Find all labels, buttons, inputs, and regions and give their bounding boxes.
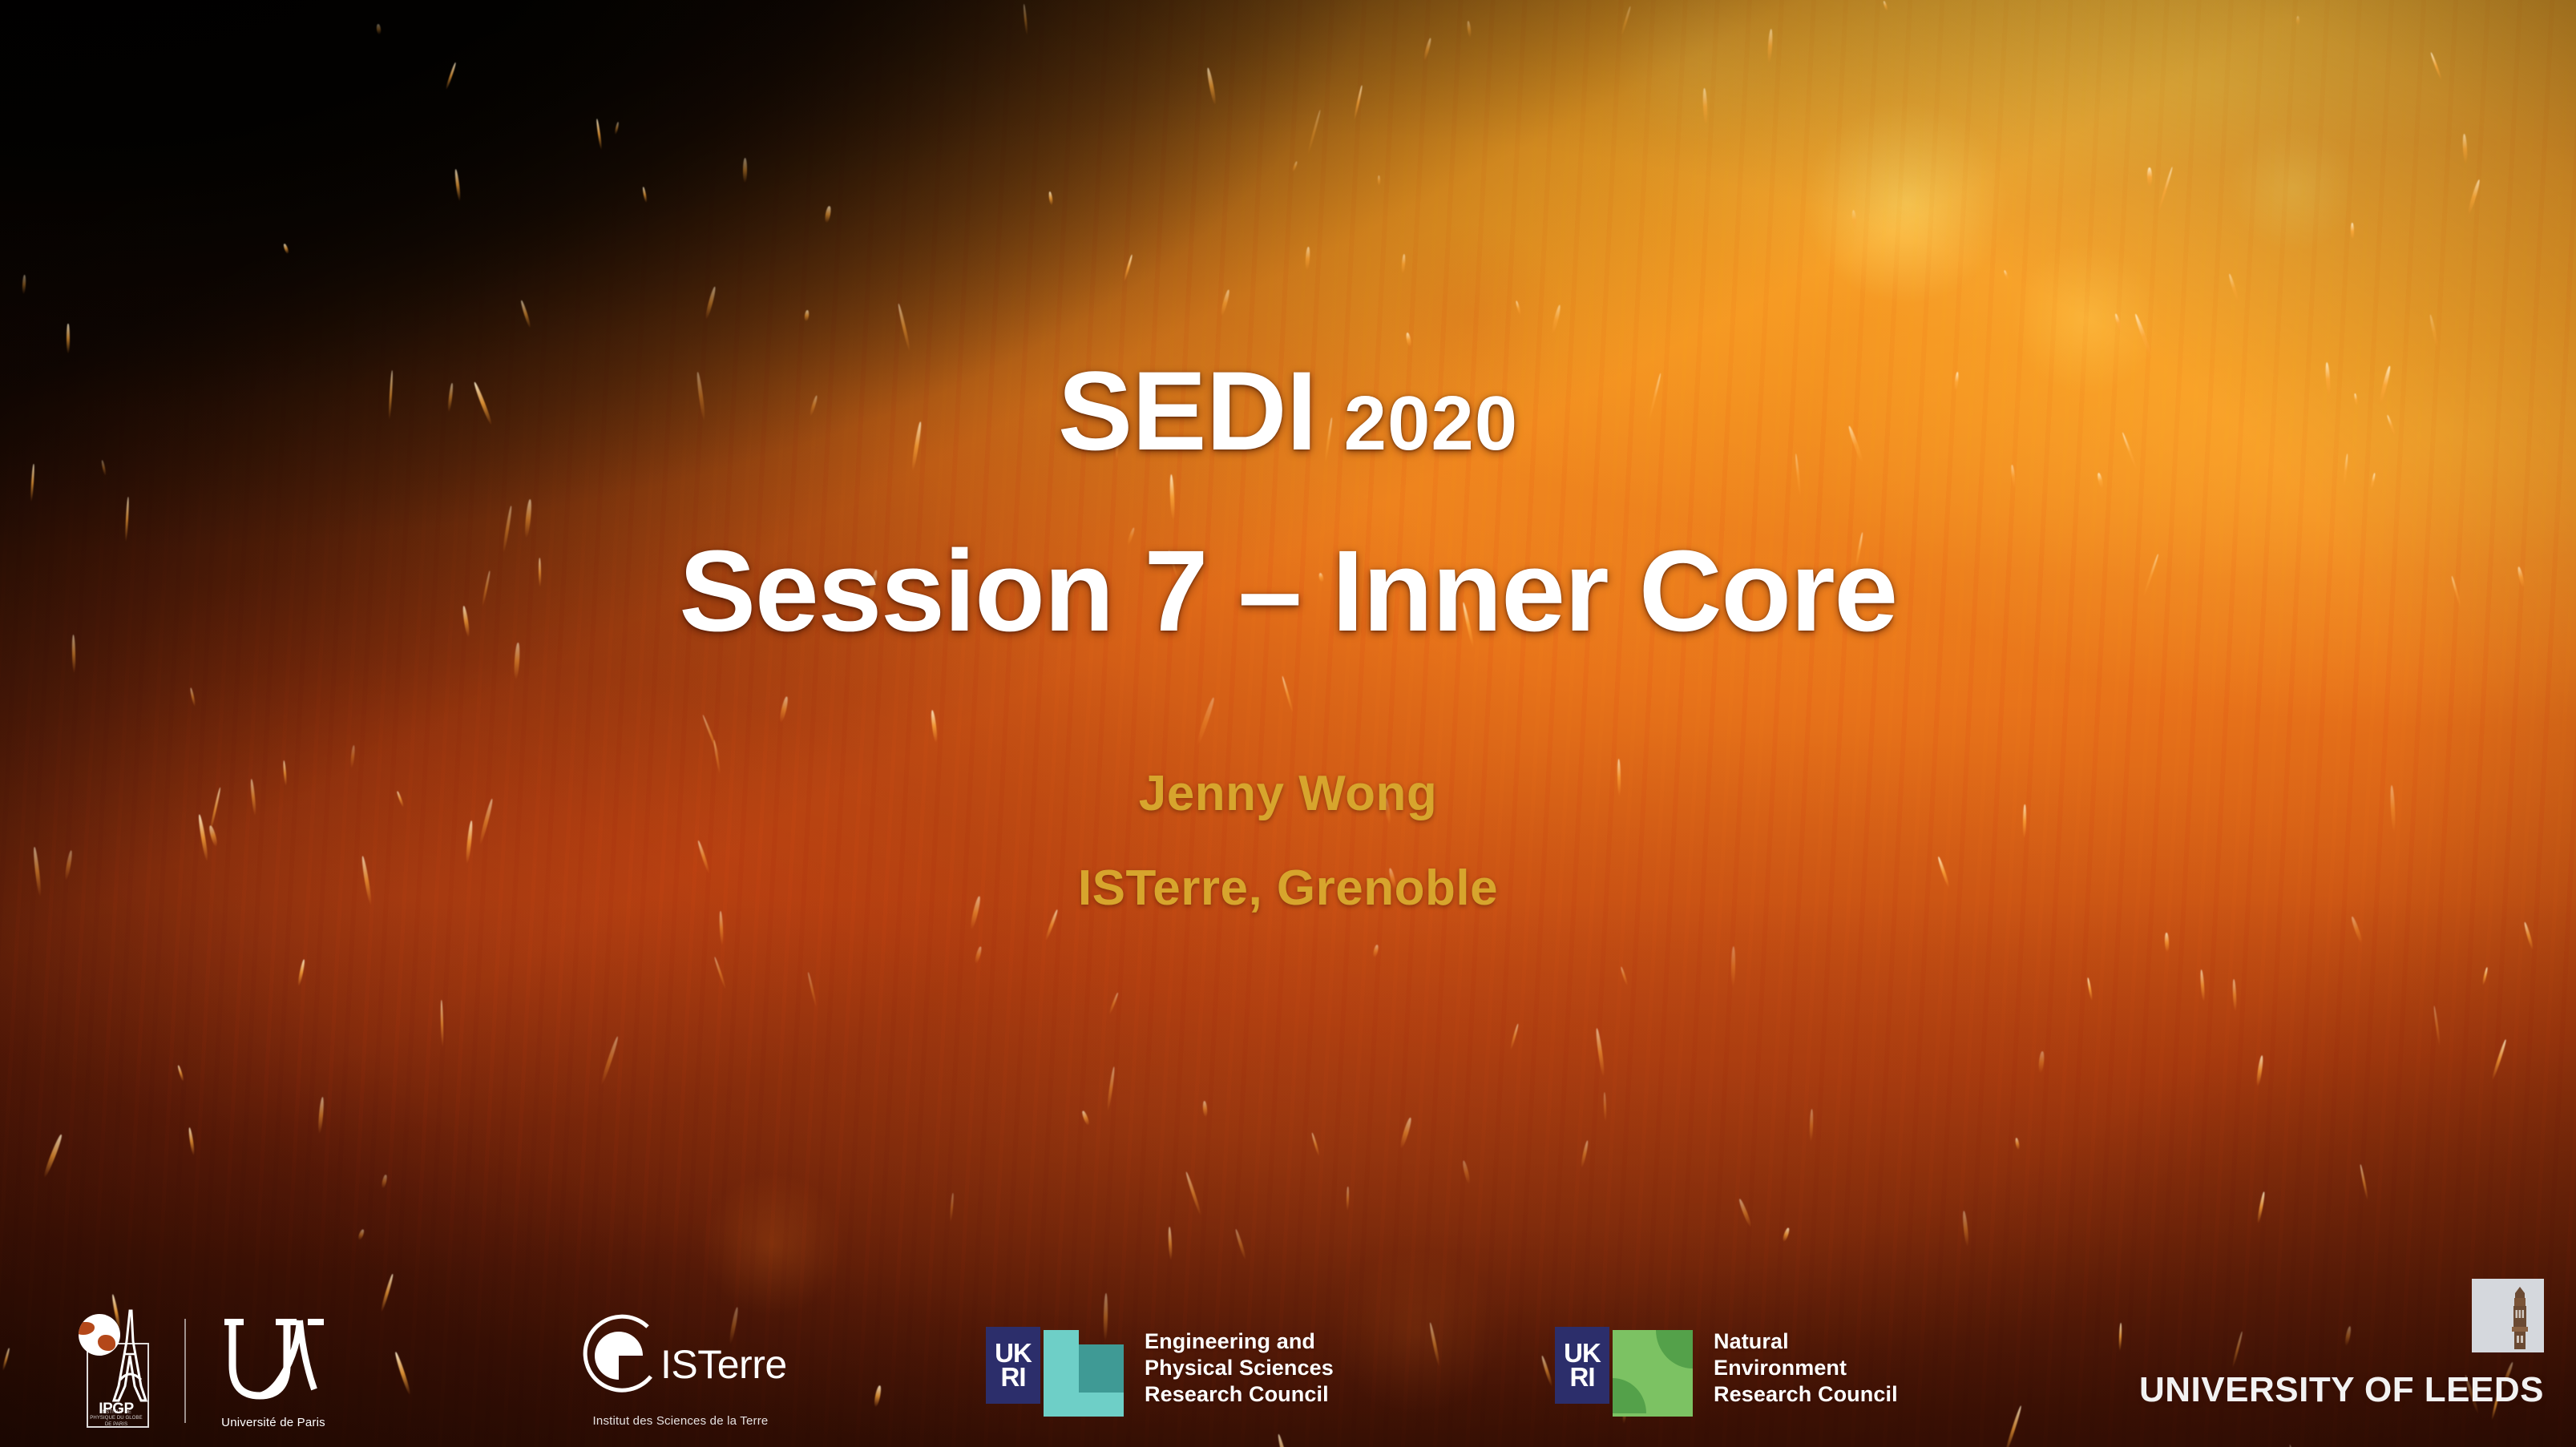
logo-divider — [184, 1319, 186, 1423]
presentation-slide: SEDI2020 Session 7 – Inner Core Jenny Wo… — [0, 0, 2576, 1447]
parkinson-tower-icon — [2506, 1285, 2534, 1351]
background-dark-corner — [0, 0, 2576, 1447]
nerc-shapes — [1609, 1327, 1696, 1417]
universite-paris-name: Université de Paris — [213, 1416, 333, 1429]
epsrc-name-line-2: Physical Sciences — [1145, 1355, 1334, 1381]
u-monogram-icon — [220, 1316, 327, 1405]
epsrc-name-line-3: Research Council — [1145, 1381, 1334, 1408]
epsrc-council-name: Engineering and Physical Sciences Resear… — [1145, 1327, 1334, 1408]
background-vignette — [0, 0, 2576, 1447]
nerc-name-line-1: Natural — [1714, 1328, 1898, 1355]
background-upper-right-bloom — [0, 0, 2576, 1447]
slide-title-primary: SEDI2020 — [0, 346, 2576, 476]
nerc-name-line-2: Environment — [1714, 1355, 1898, 1381]
background-flame-streaks — [0, 0, 2576, 1447]
logo-university-of-leeds: UNIVERSITY OF LEEDS — [2129, 1279, 2546, 1423]
eiffel-tower-icon — [109, 1309, 152, 1404]
ember-sparks — [0, 0, 2576, 1447]
isterre-name: ISTerre — [660, 1344, 787, 1385]
slide-title-session: Session 7 – Inner Core — [0, 525, 2576, 658]
background-bottom-shade — [0, 0, 2576, 1447]
logo-ipgp: IPGP INSTITUT DE PHYSIQUE DU GLOBE DE PA… — [74, 1309, 157, 1429]
isterre-subtitle: Institut des Sciences de la Terre — [575, 1414, 785, 1428]
leeds-name: UNIVERSITY OF LEEDS — [2139, 1370, 2544, 1410]
nerc-council-name: Natural Environment Research Council — [1714, 1327, 1898, 1408]
background-smoke-billows — [0, 0, 2576, 1447]
logo-ukri-nerc: UK RI Natural Environment Research Counc… — [1555, 1327, 1898, 1417]
ipgp-subtitle: INSTITUT DE PHYSIQUE DU GLOBE DE PARIS — [88, 1410, 144, 1429]
ukri-wordmark-box: UK RI — [986, 1327, 1040, 1404]
logo-group-paris: IPGP INSTITUT DE PHYSIQUE DU GLOBE DE PA… — [74, 1309, 333, 1429]
ukri-wordmark-box: UK RI — [1555, 1327, 1609, 1404]
title-year: 2020 — [1344, 381, 1519, 466]
nerc-name-line-3: Research Council — [1714, 1381, 1898, 1408]
background-base-gradient — [0, 0, 2576, 1447]
leeds-crest-panel — [2472, 1279, 2544, 1352]
author-affiliation: ISTerre, Grenoble — [0, 860, 2576, 917]
isterre-circle-icon — [571, 1309, 667, 1399]
logo-strip: IPGP INSTITUT DE PHYSIQUE DU GLOBE DE PA… — [0, 1247, 2576, 1447]
logo-isterre: ISTerre Institut des Sciences de la Terr… — [571, 1309, 785, 1429]
background-mid-right-glow — [0, 0, 2576, 1447]
epsrc-shape-horizontal-bar — [1044, 1389, 1124, 1417]
logo-universite-paris: Université de Paris — [213, 1311, 333, 1429]
background-dark-corner-wedge — [0, 0, 2576, 1447]
background-hotspots — [0, 0, 2576, 1447]
ukri-line-ri: RI — [1570, 1365, 1595, 1389]
title-sedi: SEDI — [1058, 348, 1317, 474]
author-name: Jenny Wong — [0, 765, 2576, 822]
epsrc-shapes — [1040, 1327, 1127, 1417]
epsrc-shape-square — [1079, 1344, 1124, 1393]
epsrc-name-line-1: Engineering and — [1145, 1328, 1334, 1355]
logo-ukri-epsrc: UK RI Engineering and Physical Sciences … — [986, 1327, 1334, 1417]
ukri-line-ri: RI — [1001, 1365, 1026, 1389]
